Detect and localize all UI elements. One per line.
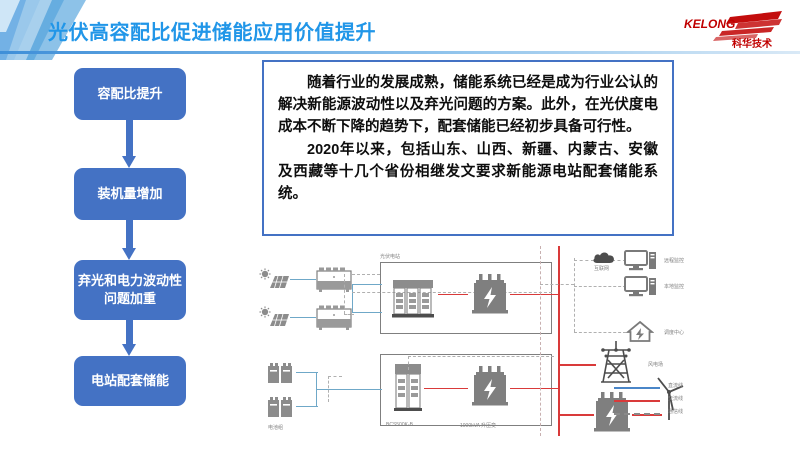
- pcs-cabinet-icon: [394, 362, 422, 416]
- dc-wire-batt2: [296, 406, 318, 407]
- flow-connector-2: [126, 220, 133, 248]
- battery-pack-icon-2: [266, 396, 296, 420]
- comm-dash-storage-riser: [408, 356, 409, 370]
- dc-wire-array2: [290, 317, 316, 318]
- solar-panel-icon-1: [258, 268, 292, 292]
- dc-wire-riser: [352, 284, 353, 312]
- ac-wire-storage-1: [424, 388, 468, 389]
- dc-wire-batt-bus: [316, 389, 382, 390]
- dc-wire-array1: [290, 279, 316, 280]
- flow-arrowhead-2-icon: [122, 248, 136, 260]
- comm-tree-dispatch-branch: [574, 332, 626, 333]
- internet-label: 互联网: [594, 265, 609, 272]
- main-comm-bus: [540, 246, 541, 436]
- legend-row-dc: 直流线: [614, 382, 734, 395]
- header-rule: [0, 51, 800, 54]
- process-flow-chart: 容配比提升 装机量增加 弃光和电力波动性问题加重 电站配套储能: [66, 64, 194, 408]
- flow-step-3[interactable]: 弃光和电力波动性问题加重: [74, 260, 186, 320]
- comm-dash-storage-bus: [408, 356, 554, 357]
- dc-wire-batt-riser: [316, 372, 317, 407]
- flow-connector-1: [126, 120, 133, 156]
- comm-dash-batt: [328, 376, 329, 402]
- main-ac-bus: [558, 246, 560, 436]
- diagram-legend: 直流线 交流线 通信线: [614, 382, 734, 421]
- legend-row-comm: 通信线: [614, 408, 734, 421]
- battery-pack-icon-1: [266, 362, 296, 386]
- ac-wire-to-grid-tx: [560, 414, 594, 416]
- flow-step-4[interactable]: 电站配套储能: [74, 356, 186, 406]
- remote-monitor-icon: [624, 250, 658, 272]
- inverter-icon-2: [316, 304, 352, 332]
- legend-swatch-ac: [614, 400, 660, 402]
- kelong-logo: KELONG 科华技术: [682, 7, 786, 51]
- transformer-icon-storage: [470, 366, 510, 408]
- legend-row-ac: 交流线: [614, 395, 734, 408]
- dc-wire-batt1: [296, 372, 318, 373]
- transmission-tower-icon: [596, 340, 636, 384]
- storage-cabinet-icon-pv: [392, 274, 436, 320]
- flow-step-1[interactable]: 容配比提升: [74, 68, 186, 120]
- remote-monitor-label: 远程监控: [664, 257, 684, 264]
- legend-label-dc: 直流线: [668, 382, 683, 389]
- comm-tree-local-branch: [574, 286, 626, 287]
- comm-dash-pv-3: [344, 314, 354, 315]
- dispatch-center-label: 调度中心: [664, 329, 684, 336]
- transformer-label: 1000kVA 升压变: [460, 422, 496, 429]
- cloud-internet-icon: [592, 250, 616, 266]
- ac-wire-pv-2: [510, 294, 560, 295]
- local-monitor-label: 本地监控: [664, 283, 684, 290]
- pcs-label: BCS500K-B: [386, 422, 413, 428]
- body-text-box: 随着行业的发展成熟，储能系统已经是成为行业公认的解决新能源波动性以及弃光问题的方…: [262, 60, 674, 236]
- dc-wire-inv2: [352, 312, 382, 313]
- slide-canvas: 光伏高容配比促进储能应用价值提升 KELONG 科华技术 容配比提升 装机量增加…: [0, 0, 800, 450]
- pv-station-label: 光伏电站: [380, 253, 400, 260]
- transformer-icon-pv: [470, 274, 510, 316]
- wind-farm-label: 风电场: [648, 361, 663, 368]
- ac-wire-to-tower: [560, 364, 596, 366]
- page-title: 光伏高容配比促进储能应用价值提升: [48, 16, 376, 45]
- body-paragraph-2: 2020年以来，包括山东、山西、新疆、内蒙古、安徽及西藏等十几个省份相继发文要求…: [278, 139, 658, 205]
- logo-latin-text: KELONG: [684, 17, 735, 31]
- legend-swatch-dc: [614, 387, 660, 389]
- logo-chinese-text: 科华技术: [732, 37, 772, 50]
- ac-wire-storage-2: [510, 388, 560, 389]
- local-monitor-icon: [624, 276, 658, 298]
- legend-label-comm: 通信线: [668, 408, 683, 415]
- comm-tree-to-cloud: [574, 260, 594, 261]
- inverter-icon-1: [316, 266, 352, 294]
- comm-dash-pv-1: [352, 274, 380, 275]
- solar-panel-icon-2: [258, 306, 292, 330]
- comm-dash-pv-2: [344, 274, 345, 314]
- legend-label-ac: 交流线: [668, 395, 683, 402]
- comm-dash-batt-2: [328, 376, 342, 377]
- flow-connector-3: [126, 320, 133, 344]
- legend-swatch-comm: [614, 413, 660, 415]
- system-single-line-diagram: 光伏电站: [252, 244, 792, 440]
- comm-tree-vertical: [574, 258, 575, 332]
- comm-dash-pv-bus: [352, 292, 552, 293]
- battery-pack-label: 电池组: [268, 424, 283, 431]
- dc-wire-inv1: [352, 284, 382, 285]
- flow-step-2[interactable]: 装机量增加: [74, 168, 186, 220]
- body-paragraph-1: 随着行业的发展成熟，储能系统已经是成为行业公认的解决新能源波动性以及弃光问题的方…: [278, 72, 658, 138]
- ac-wire-pv-1: [438, 294, 468, 295]
- flow-arrowhead-3-icon: [122, 344, 136, 356]
- comm-tree-to-local: [540, 284, 574, 285]
- flow-arrowhead-1-icon: [122, 156, 136, 168]
